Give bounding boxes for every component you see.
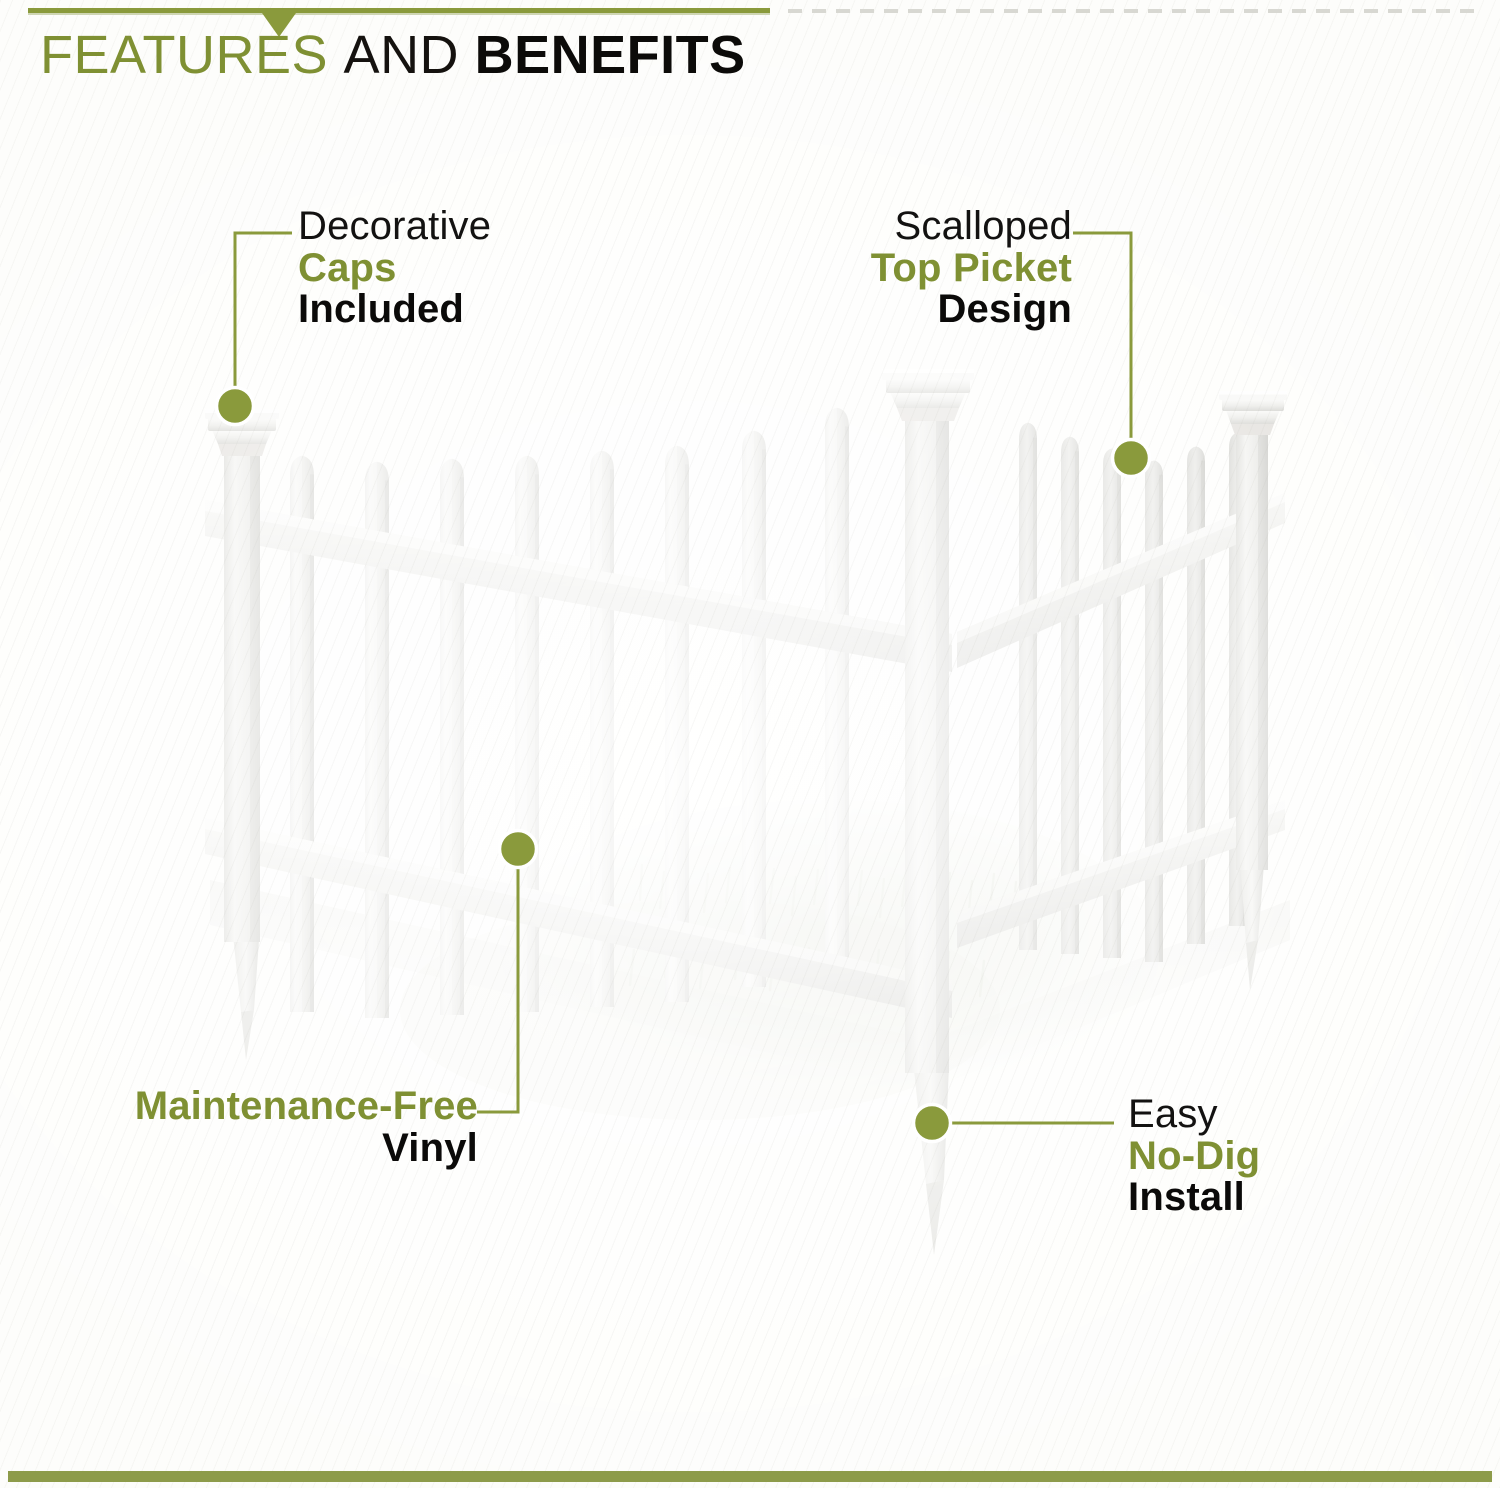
callout-picket-line1: Scalloped [648, 206, 1072, 248]
callout-install-line1: Easy [1128, 1094, 1260, 1136]
callout-vinyl-line2: Vinyl [60, 1128, 478, 1170]
title-and: AND [344, 25, 460, 85]
header-rule-solid [28, 8, 770, 13]
page-title: FEATURES AND BENEFITS [40, 26, 746, 84]
callout-caps-line1: Decorative [298, 206, 491, 248]
callout-caps-line3: Included [298, 289, 491, 331]
callout-easy-no-dig-install: Easy No-Dig Install [1128, 1094, 1260, 1219]
header-rule-dashed [788, 9, 1476, 13]
post-cap-corner [882, 369, 974, 421]
title-features: FEATURES [40, 25, 328, 85]
title-benefits: BENEFITS [475, 25, 746, 85]
footer-bar [8, 1471, 1492, 1482]
callout-picket-line3: Design [648, 289, 1072, 331]
callout-install-line2: No-Dig [1128, 1136, 1260, 1178]
post-cap-left [205, 409, 279, 456]
callout-picket-line2: Top Picket [648, 248, 1072, 290]
callout-maintenance-free-vinyl: Maintenance-Free Vinyl [60, 1086, 478, 1169]
callout-decorative-caps: Decorative Caps Included [298, 206, 491, 331]
callout-scalloped-top-picket: Scalloped Top Picket Design [648, 206, 1072, 331]
callout-caps-line2: Caps [298, 248, 491, 290]
post-cap-right [1219, 391, 1287, 435]
callout-install-line3: Install [1128, 1177, 1260, 1219]
callout-vinyl-line1: Maintenance-Free [60, 1086, 478, 1128]
